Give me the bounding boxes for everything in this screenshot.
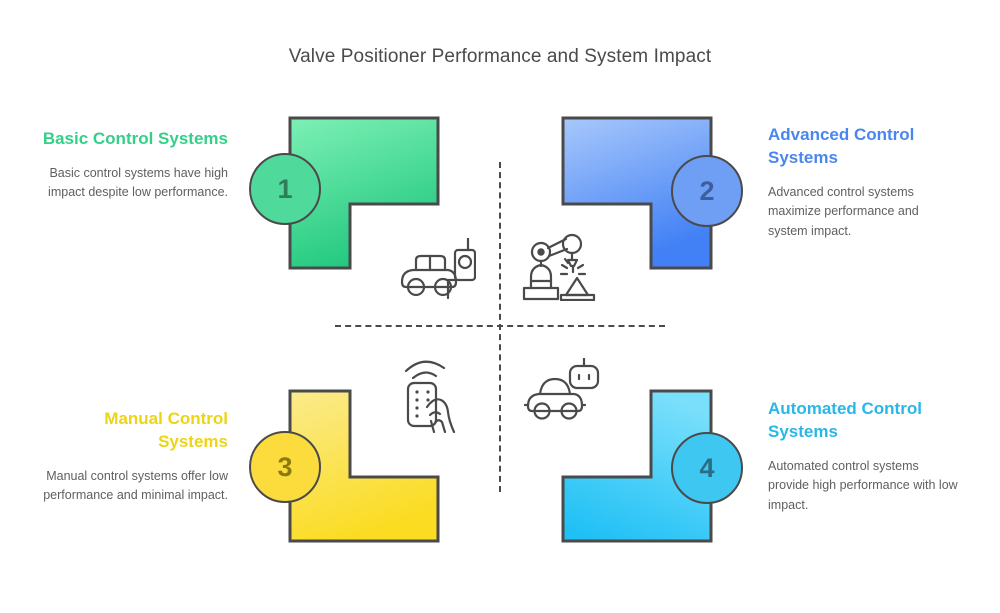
badge-number-1[interactable]: 1 (249, 153, 321, 225)
divider-horizontal (335, 325, 665, 327)
robot-arm-welding-icon (521, 229, 599, 301)
badge-number-4[interactable]: 4 (671, 432, 743, 504)
badge-number-3[interactable]: 3 (249, 431, 321, 503)
quadrant-text-4: Automated Control Systems Automated cont… (768, 398, 958, 515)
autonomous-car-robot-icon (524, 358, 600, 424)
page-title: Valve Positioner Performance and System … (0, 46, 1000, 68)
hand-remote-control-icon (400, 355, 466, 433)
quadrant-body-1: Basic control systems have high impact d… (38, 164, 228, 203)
quadrant-text-2: Advanced Control Systems Advanced contro… (768, 124, 958, 241)
quadrant-text-1: Basic Control Systems Basic control syst… (38, 128, 228, 203)
quadrant-heading-1: Basic Control Systems (38, 128, 228, 151)
quadrant-text-3: Manual Control Systems Manual control sy… (38, 408, 228, 506)
badge-number-2[interactable]: 2 (671, 155, 743, 227)
quadrant-heading-4: Automated Control Systems (768, 398, 958, 444)
quadrant-heading-2: Advanced Control Systems (768, 124, 958, 170)
divider-vertical (499, 162, 501, 492)
car-traffic-light-icon (398, 238, 476, 300)
quadrant-body-2: Advanced control systems maximize perfor… (768, 183, 958, 241)
quadrant-heading-3: Manual Control Systems (38, 408, 228, 454)
quadrant-body-3: Manual control systems offer low perform… (38, 467, 228, 506)
quadrant-body-4: Automated control systems provide high p… (768, 457, 958, 515)
